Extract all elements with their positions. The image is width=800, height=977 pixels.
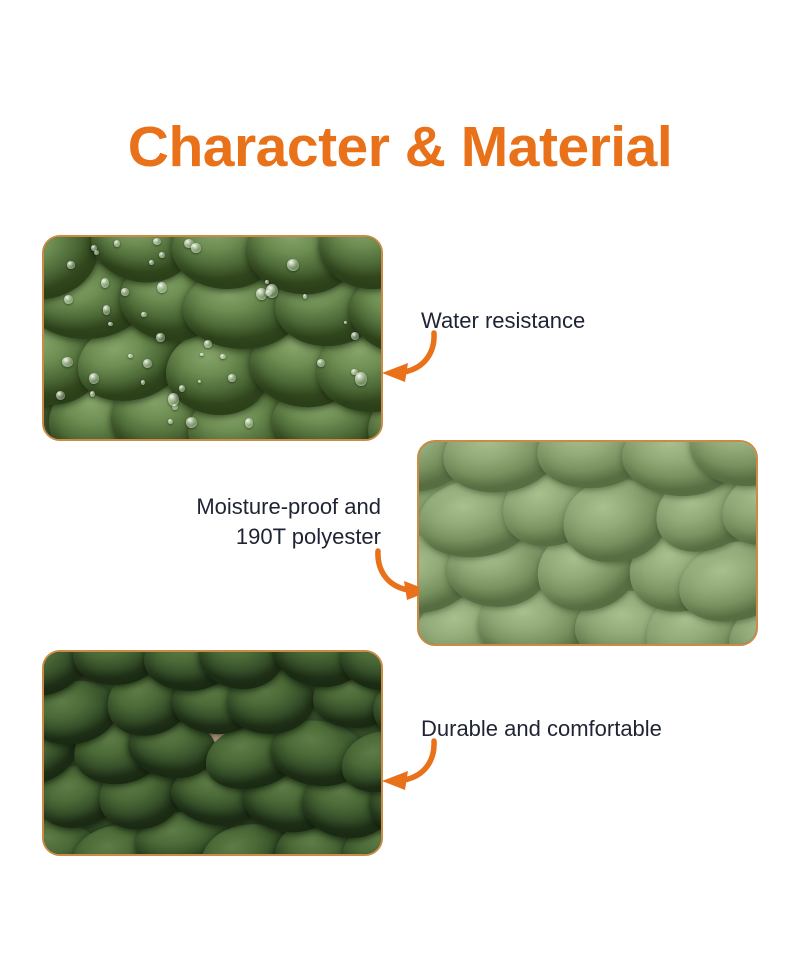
- water-droplet: [101, 278, 109, 288]
- feature-caption-water-resistance: Water resistance: [421, 306, 585, 336]
- curved-arrow-left-icon: [378, 738, 440, 796]
- water-droplet: [355, 372, 366, 386]
- feature-caption-moisture-proof: Moisture-proof and 190T polyester: [135, 492, 381, 552]
- water-droplet: [67, 261, 75, 268]
- water-droplet: [62, 357, 73, 367]
- water-droplet: [191, 243, 200, 252]
- water-droplet: [159, 252, 165, 258]
- water-droplet: [228, 374, 235, 382]
- water-droplet: [168, 419, 173, 425]
- water-droplet: [156, 333, 164, 343]
- pad-photo-water: [44, 237, 381, 439]
- water-droplet: [245, 418, 253, 427]
- pad-photo-fabric: [419, 442, 756, 644]
- feature-image-moisture-proof: [417, 440, 758, 646]
- water-droplet: [89, 373, 99, 384]
- water-droplet: [204, 340, 212, 347]
- pad-cell-grid: [419, 442, 756, 644]
- pad-cell-grid: [44, 237, 381, 439]
- curved-arrow-left-icon: [378, 330, 440, 388]
- water-droplet: [153, 238, 161, 246]
- feature-image-durable-comfortable: [42, 650, 383, 856]
- water-droplet: [149, 260, 154, 265]
- page-title: Character & Material: [0, 118, 800, 178]
- water-droplet: [157, 282, 167, 293]
- feature-image-water-resistance: [42, 235, 383, 441]
- water-droplet: [266, 284, 278, 298]
- pad-photo-durable: [44, 652, 381, 854]
- feature-caption-durable-comfortable: Durable and comfortable: [421, 714, 662, 744]
- water-droplet: [265, 280, 269, 284]
- water-droplet: [179, 385, 186, 392]
- water-droplet: [141, 312, 146, 317]
- water-droplet: [143, 359, 152, 369]
- water-droplet: [168, 393, 179, 406]
- pad-cell-grid: [44, 652, 381, 854]
- water-droplet: [103, 305, 111, 314]
- water-droplet: [56, 391, 65, 400]
